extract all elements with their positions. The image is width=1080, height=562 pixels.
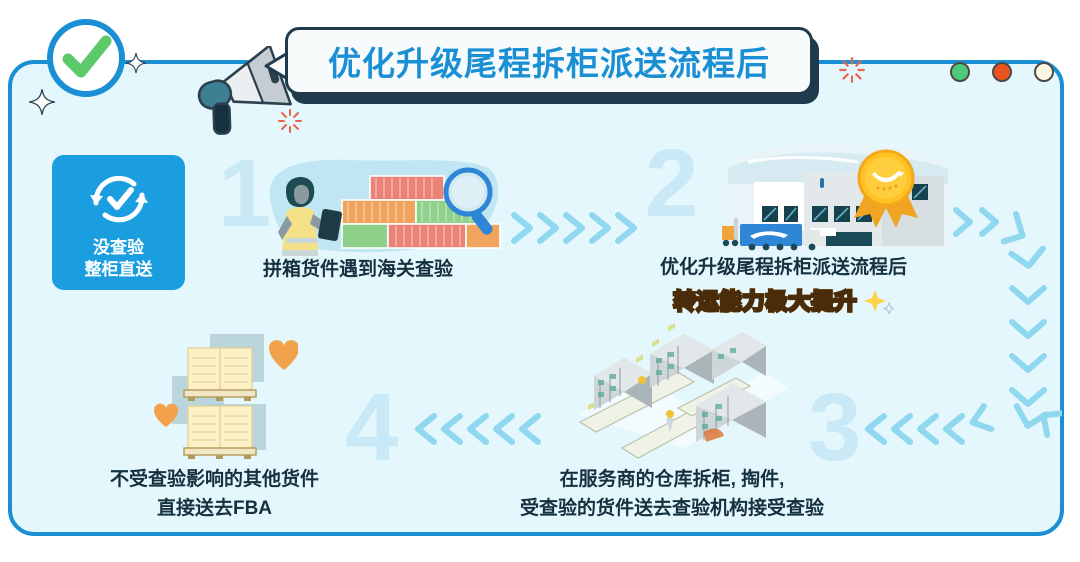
dot-green-icon xyxy=(950,62,970,82)
step-number-4: 4 xyxy=(345,380,398,476)
burst-icon xyxy=(838,56,866,84)
caption-line: 不受查验影响的其他货件 xyxy=(110,466,319,495)
step-number-3: 3 xyxy=(808,380,861,476)
flow-arrows-step3-left-a xyxy=(862,406,980,452)
badge-line-1: 没查验 xyxy=(85,237,153,259)
flow-arrows-step3-to-step4 xyxy=(412,406,554,452)
caption-line: 受查验的货件送去查验机构接受查验 xyxy=(520,495,824,524)
step-2-highlight-row: 转运能力极大提升 xyxy=(660,285,907,318)
step-4-caption: 不受查验影响的其他货件 直接送去FBA xyxy=(110,466,319,523)
step-2-caption: 优化升级尾程拆柜派送流程后 转运能力极大提升 xyxy=(660,254,907,318)
caption-line: 拼箱货件遇到海关查验 xyxy=(263,256,453,285)
flow-arrows-step1-to-step2 xyxy=(508,205,648,251)
infographic-root: 优化升级尾程拆柜派送流程后 没查验 整柜直送 1 2 3 4 xyxy=(0,0,1080,562)
step-3-caption: 在服务商的仓库拆柜, 掏件, 受查验的货件送去查验机构接受查验 xyxy=(520,466,824,523)
dot-cream-icon xyxy=(1034,62,1054,82)
amazon-warehouse-truck-medal-illustration xyxy=(718,140,954,258)
refresh-check-icon xyxy=(86,171,152,227)
caption-line: 优化升级尾程拆柜派送流程后 xyxy=(660,254,907,283)
pallets-hearts-illustration xyxy=(148,330,298,460)
sparkle-icon xyxy=(864,288,894,314)
window-dots xyxy=(950,62,1054,82)
no-inspection-badge: 没查验 整柜直送 xyxy=(52,155,185,290)
caption-line: 在服务商的仓库拆柜, 掏件, xyxy=(520,466,824,495)
badge-line-2: 整柜直送 xyxy=(85,259,153,281)
title-speech-bubble: 优化升级尾程拆柜派送流程后 xyxy=(285,27,825,107)
caption-line: 直接送去FBA xyxy=(110,495,319,524)
check-circle-icon xyxy=(42,14,130,102)
person-containers-magnifier-illustration xyxy=(256,152,506,262)
dot-orange-icon xyxy=(992,62,1012,82)
isometric-warehouse-racks-illustration xyxy=(566,322,796,468)
step-1-caption: 拼箱货件遇到海关查验 xyxy=(263,256,453,285)
heart-icon xyxy=(269,340,298,370)
badge-text: 没查验 整柜直送 xyxy=(85,237,153,282)
step-number-2: 2 xyxy=(645,136,698,232)
step-2-highlight: 转运能力极大提升 xyxy=(674,285,858,318)
page-title: 优化升级尾程拆柜派送流程后 xyxy=(328,37,770,85)
bubble-body: 优化升级尾程拆柜派送流程后 xyxy=(285,27,813,95)
